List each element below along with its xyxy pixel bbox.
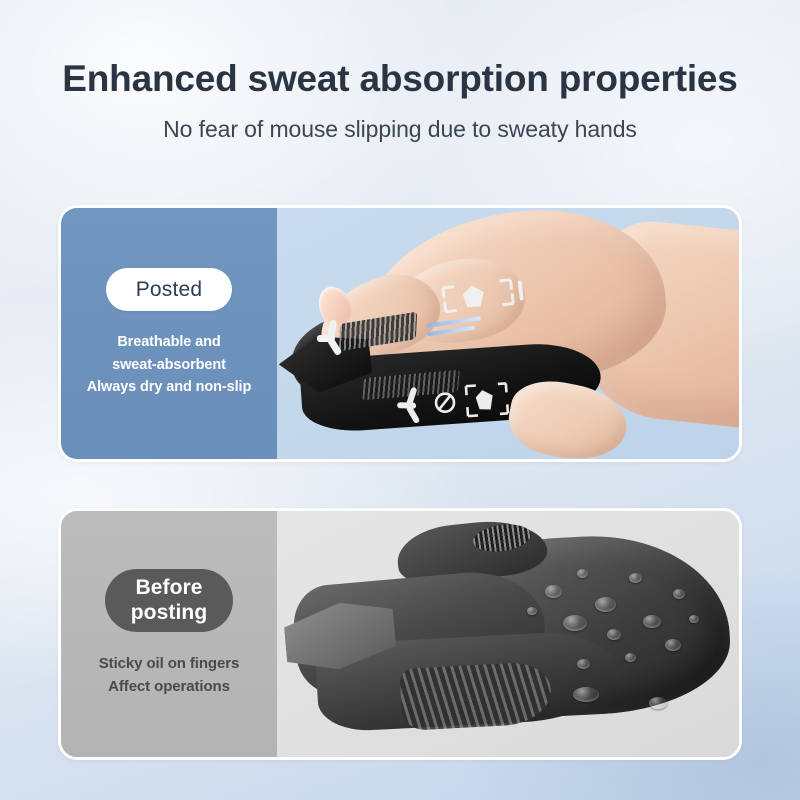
badge-line: posting <box>131 601 208 625</box>
page-subtitle: No fear of mouse slipping due to sweaty … <box>0 116 800 143</box>
sweat-droplet <box>577 569 588 578</box>
sweat-droplet <box>527 607 537 615</box>
sweat-droplet <box>673 589 685 599</box>
caption-line: Breathable and <box>87 331 251 353</box>
feature-panel-before-posting: Before posting Sticky oil on fingers Aff… <box>58 508 742 760</box>
badge-line: Before <box>131 576 208 600</box>
panel-posted-caption: Breathable and sweat-absorbent Always dr… <box>87 331 251 398</box>
page-header: Enhanced sweat absorption properties No … <box>0 58 800 143</box>
mouse-propeller-decal <box>308 315 357 361</box>
mouse-lower-decal-group <box>394 376 517 428</box>
sweat-droplet <box>625 653 636 662</box>
sweat-droplet <box>545 585 562 598</box>
sweat-droplet <box>689 615 699 623</box>
product-feature-page: Enhanced sweat absorption properties No … <box>0 0 800 800</box>
panel-before-info-column: Before posting Sticky oil on fingers Aff… <box>61 511 277 757</box>
caption-line: Sticky oil on fingers <box>99 652 239 675</box>
sweat-droplet <box>643 615 661 628</box>
sweat-droplet <box>649 697 667 709</box>
caption-line: sweat-absorbent <box>87 354 251 376</box>
sweat-droplet <box>595 597 616 612</box>
panel-before-caption: Sticky oil on fingers Affect operations <box>99 652 239 699</box>
panel-before-photo <box>277 511 739 757</box>
panel-posted-photo <box>277 208 739 459</box>
sweat-droplet <box>573 687 599 702</box>
sweat-droplet <box>665 639 681 651</box>
sweat-droplet <box>577 659 590 669</box>
sweat-droplet <box>629 573 642 583</box>
caption-line: Always dry and non-slip <box>87 376 251 398</box>
status-badge-posted: Posted <box>106 268 233 311</box>
sweat-droplet <box>563 615 587 631</box>
panel-posted-info-column: Posted Breathable and sweat-absorbent Al… <box>61 208 277 459</box>
sweat-droplet <box>607 629 621 640</box>
caption-line: Affect operations <box>99 675 239 698</box>
page-title: Enhanced sweat absorption properties <box>0 58 800 99</box>
status-badge-before-posting: Before posting <box>105 569 234 632</box>
feature-panel-posted: Posted Breathable and sweat-absorbent Al… <box>58 205 742 462</box>
